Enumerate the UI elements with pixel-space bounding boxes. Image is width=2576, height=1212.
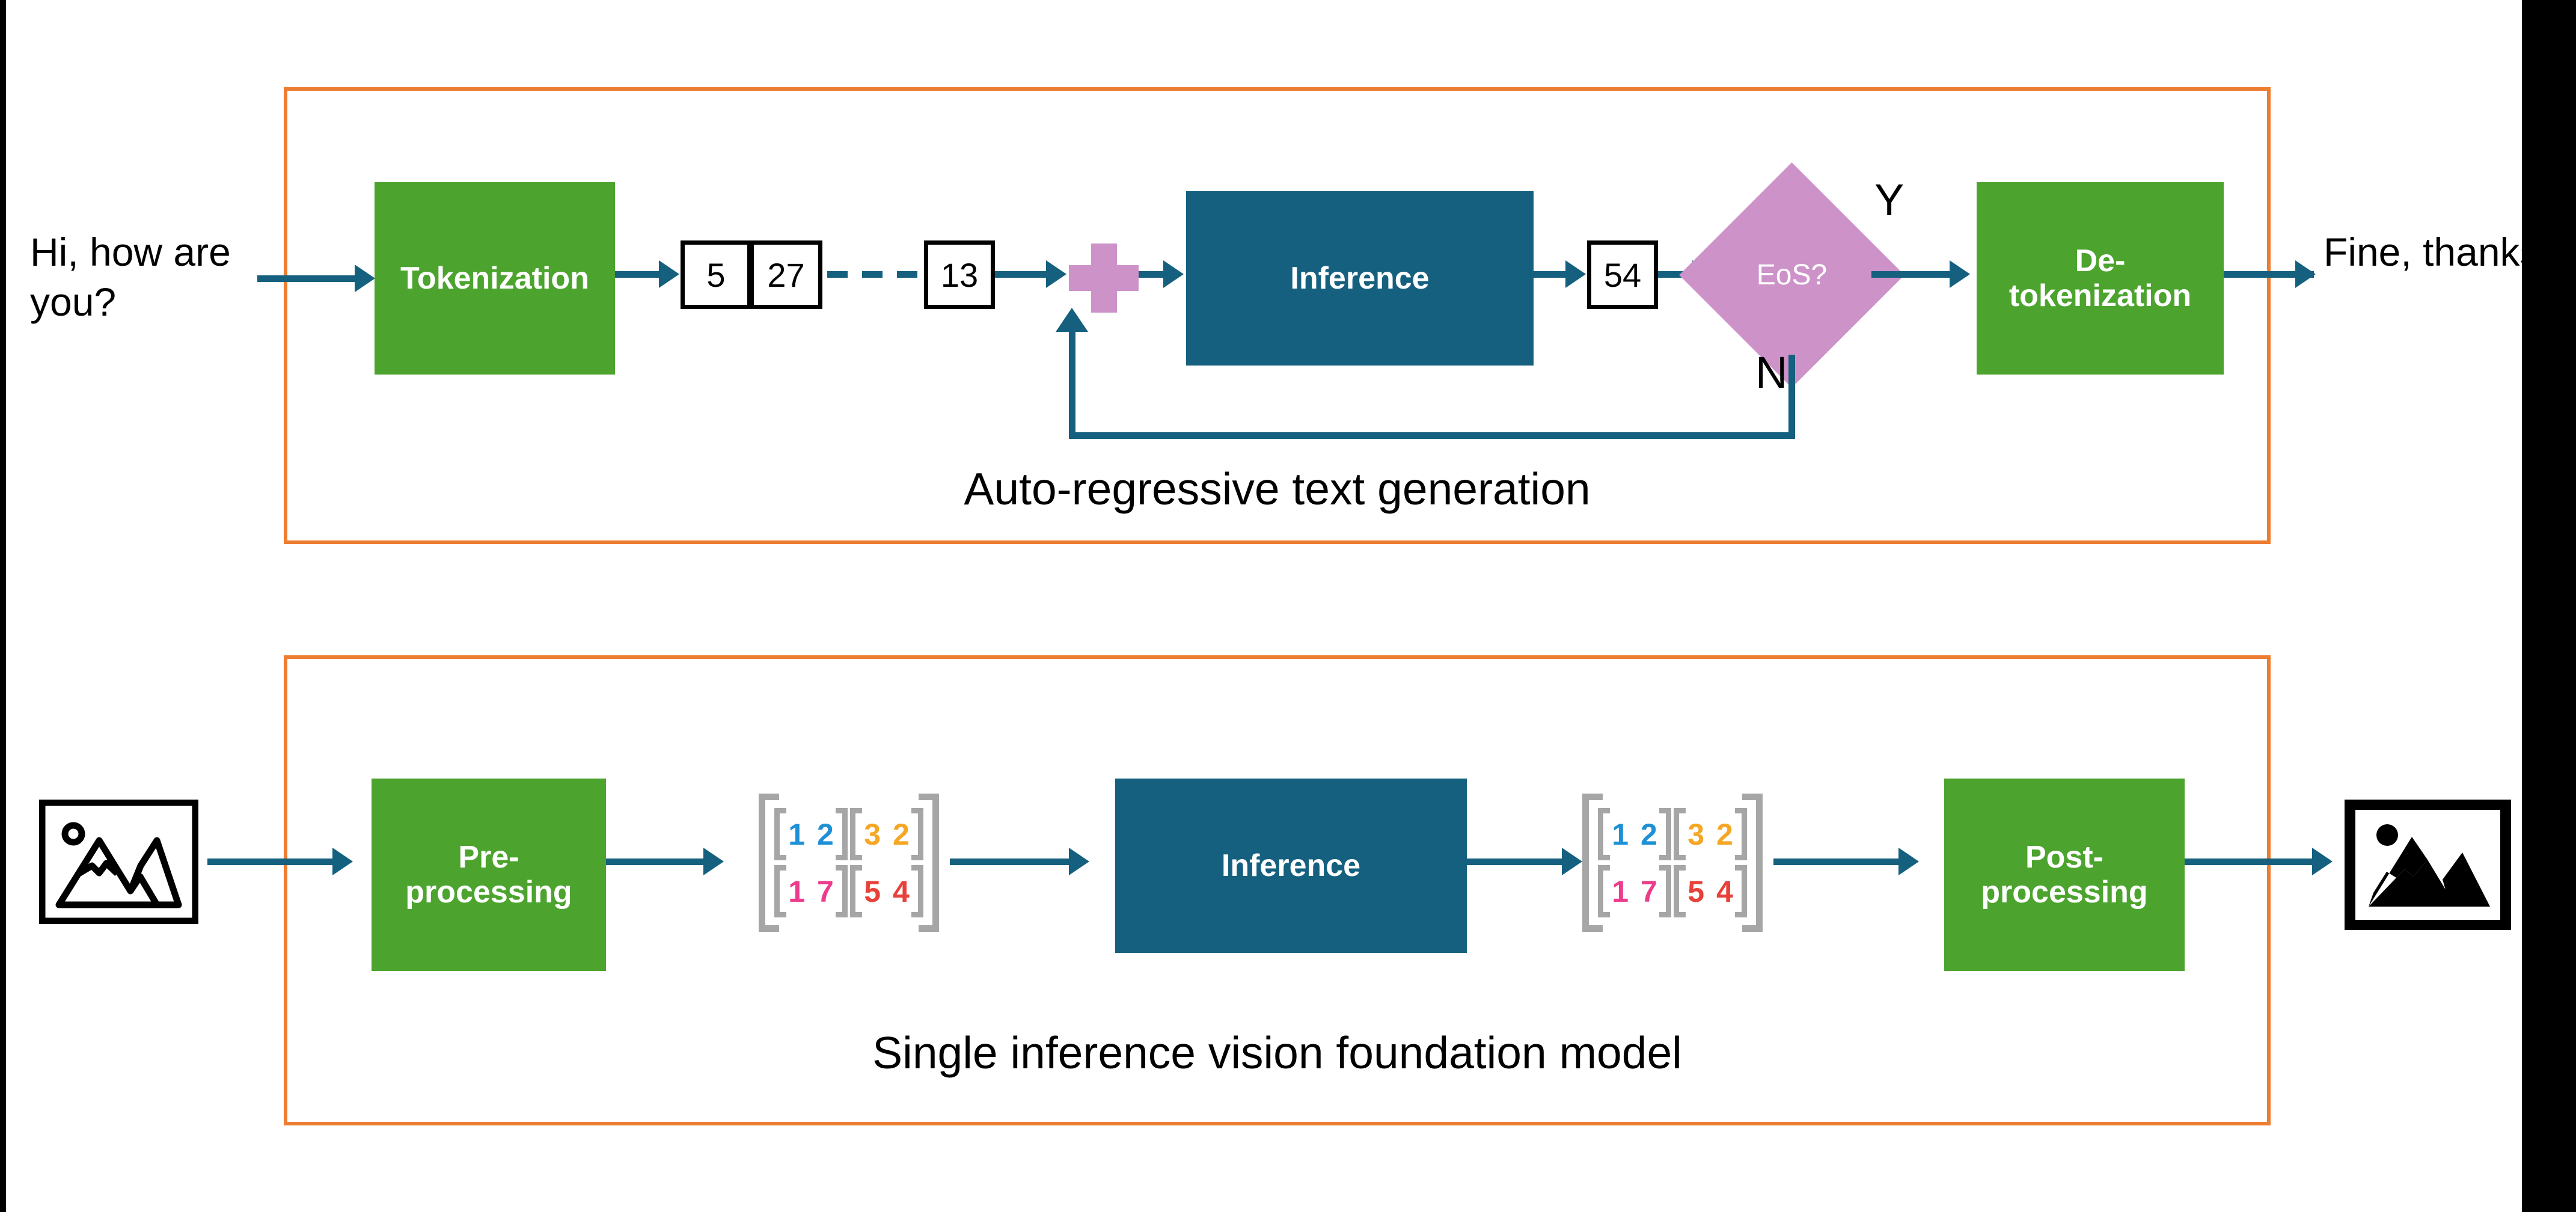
matrix-value: 2 [817,817,834,852]
matrix-inner-bracket-right [1735,865,1747,917]
matrix-inner-bracket-right [836,865,848,917]
matrix-value: 3 [864,817,881,852]
tokenization-box[interactable]: Tokenization [375,182,615,375]
matrix-value: 4 [893,874,910,909]
feedback-loop-arrow-head [1056,308,1088,332]
matrix-value: 2 [893,817,910,852]
token-box: 27 [751,240,822,309]
arrow-plus-to-inference-head [1163,260,1184,288]
token-value: 54 [1604,256,1641,295]
matrix-inner-bracket-right [911,808,923,860]
tokenization-label: Tokenization [400,261,589,296]
branch-label-no: N [1755,347,1787,398]
arrow-image-to-preprocessing-line [207,858,334,865]
token-box: 5 [681,240,751,309]
diagram-canvas: Hi, how are you? Tokenization 5 27 13 In… [6,0,2522,1212]
matrix-value: 5 [864,874,881,909]
arrow-matrix-to-postprocessing-head [1898,848,1919,875]
arrow-image-to-preprocessing-head [332,848,353,875]
detokenization-label-line2: tokenization [2009,278,2191,313]
matrix-value: 1 [1612,817,1629,852]
feedback-loop-down-segment [1788,355,1795,439]
matrix-cell: 1 7 [1597,863,1672,920]
matrix-value: 1 [788,874,805,909]
arrow-postprocessing-to-image-head [2312,848,2333,875]
eos-label: EoS? [1757,259,1827,292]
matrix-cell: 5 4 [849,863,925,920]
inference-label: Inference [1290,261,1429,296]
matrix-value: 2 [1641,817,1657,852]
arrow-eos-yes-head [1950,260,1970,288]
matrix-cell: 1 7 [773,863,849,920]
dashed-token-connector [827,271,919,278]
arrow-eos-yes-line [1871,271,1950,278]
output-image-icon [2345,800,2511,930]
matrix-inner-bracket-left [850,865,862,917]
concat-plus-icon [1069,243,1139,313]
arrow-tokens-to-plus-head [1046,260,1066,288]
matrix-cell: 3 2 [1672,806,1748,863]
matrix-value: 5 [1687,874,1704,909]
matrix-inner-bracket-right [836,808,848,860]
inference-label: Inference [1222,848,1360,883]
matrix-inner-bracket-left [1674,808,1686,860]
preprocessing-label-line2: processing [405,875,572,910]
matrix-inner-bracket-left [774,865,786,917]
caption-top-panel: Auto-regressive text generation [284,463,2271,515]
arrow-input-to-tokenization-line [257,275,356,282]
matrix-inner-bracket-left [774,808,786,860]
arrow-detokenization-to-output-head [2295,260,2316,288]
arrow-inference-to-token-line [1534,271,1567,278]
arrow-matrix-to-inference-line [950,858,1070,865]
arrow-preprocessing-to-matrix-head [703,848,724,875]
matrix-value: 4 [1716,874,1733,909]
detokenization-label-line1: De- [2009,243,2191,278]
arrow-inference-to-matrix-head [1562,848,1582,875]
matrix-cell: 1 2 [1597,806,1672,863]
matrix-value: 1 [1612,874,1629,909]
feedback-loop-up-segment [1069,328,1075,436]
arrow-tokenization-to-tokens-head [659,260,679,288]
matrix-value: 3 [1687,817,1704,852]
arrow-tokens-to-plus-line [995,271,1049,278]
eos-decision-diamond[interactable]: EoS? [1712,195,1871,355]
token-value: 5 [706,256,725,295]
postprocessing-label-line2: processing [1981,875,2147,910]
preprocessing-box[interactable]: Pre- processing [372,779,606,971]
tensor-matrix-output: 1 2 3 2 1 7 [1582,794,1763,932]
matrix-inner-bracket-left [850,808,862,860]
plus-vertical-bar [1091,243,1117,313]
token-box-output: 54 [1587,240,1658,309]
matrix-value: 1 [788,817,805,852]
matrix-cell: 1 2 [773,806,849,863]
output-text-label: Fine, thanks. [2324,227,2552,277]
feedback-loop-bottom-segment [1069,432,1795,439]
token-value: 13 [941,256,978,295]
matrix-value: 2 [1716,817,1733,852]
matrix-cell: 5 4 [1672,863,1748,920]
matrix-cell: 3 2 [849,806,925,863]
arrow-preprocessing-to-matrix-line [606,858,705,865]
token-box: 13 [924,240,995,309]
matrix-inner-bracket-left [1674,865,1686,917]
matrix-value: 7 [1641,874,1657,909]
input-text-label: Hi, how are you? [30,227,246,326]
matrix-inner-bracket-right [1735,808,1747,860]
inference-box-bottom[interactable]: Inference [1115,779,1467,953]
branch-label-yes: Y [1874,174,1904,225]
matrix-inner-bracket-right [911,865,923,917]
postprocessing-label-line1: Post- [1981,840,2147,875]
matrix-inner-bracket-right [1659,808,1671,860]
token-value: 27 [767,256,804,295]
arrow-matrix-to-inference-head [1069,848,1089,875]
arrow-matrix-to-postprocessing-line [1773,858,1900,865]
matrix-value: 7 [817,874,834,909]
tensor-matrix-input: 1 2 3 2 1 7 [759,794,939,932]
postprocessing-box[interactable]: Post- processing [1944,779,2185,971]
arrow-plus-to-inference-line [1139,271,1166,278]
arrow-input-to-tokenization-head [355,265,375,292]
arrow-inference-to-token-head [1565,260,1586,288]
matrix-inner-bracket-left [1598,865,1610,917]
matrix-inner-bracket-right [1659,865,1671,917]
detokenization-box[interactable]: De- tokenization [1977,182,2224,375]
input-image-icon [39,800,198,924]
arrow-postprocessing-to-image-line [2185,858,2314,865]
matrix-inner-bracket-left [1598,808,1610,860]
arrow-tokenization-to-tokens-line [615,271,660,278]
caption-bottom-panel: Single inference vision foundation model [284,1027,2271,1079]
preprocessing-label-line1: Pre- [405,840,572,875]
inference-box-top[interactable]: Inference [1186,191,1534,366]
arrow-inference-to-matrix-line [1467,858,1563,865]
